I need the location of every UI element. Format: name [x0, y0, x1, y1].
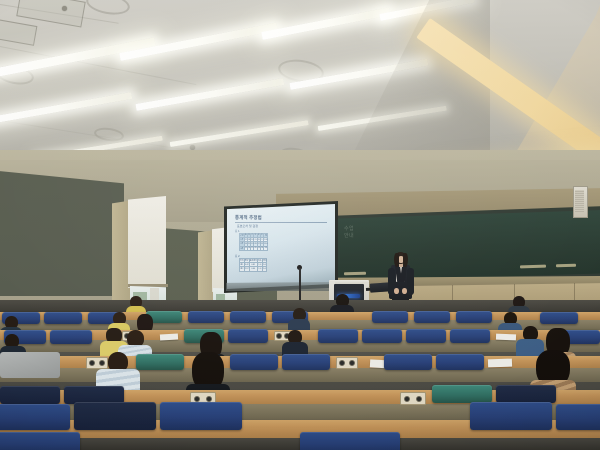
auditorium-seat[interactable]	[450, 329, 490, 343]
auditorium-seat[interactable]	[0, 432, 80, 450]
auditorium-seat[interactable]	[230, 311, 266, 323]
tier-riser	[0, 368, 600, 382]
slide-table-row: 값22.970.641.05.0	[240, 267, 267, 271]
auditorium-seat[interactable]	[456, 311, 492, 323]
slide-table-2: 항목평균표준편차최소최대값13.420.811.05.0값22.970.641.…	[239, 258, 267, 272]
projection-screen: 통계적 추정법 표본오차 및 검정 표 1 구분ABCDEF계1차1218243…	[227, 204, 335, 289]
draped-coat	[0, 352, 60, 378]
acoustic-panel	[0, 168, 124, 296]
auditorium-seat[interactable]	[74, 402, 156, 430]
chalkboard-writing: 수업 안내	[344, 226, 354, 240]
auditorium-seat[interactable]	[436, 354, 484, 370]
presenter-hand	[402, 288, 407, 294]
screen-lower-shadow	[226, 282, 336, 291]
slide-table-1: 구분ABCDEF계1차121824311591092차1421192817111…	[239, 233, 268, 252]
auditorium-seat[interactable]	[496, 385, 556, 403]
auditorium-seat[interactable]	[318, 329, 358, 343]
slide-table-cell: 5.0	[262, 267, 267, 271]
speaker-grill-icon	[575, 190, 584, 212]
auditorium-seat[interactable]	[540, 312, 578, 324]
auditorium-seat[interactable]	[406, 329, 446, 343]
slide-table-cell: 98	[264, 246, 268, 250]
smoke-detector-icon	[62, 6, 67, 11]
auditorium-seat[interactable]	[432, 385, 492, 403]
handout-paper[interactable]	[488, 359, 512, 368]
projected-slide: 통계적 추정법 표본오차 및 검정 표 1 구분ABCDEF계1차1218243…	[227, 204, 335, 289]
auditorium-seat[interactable]	[300, 432, 400, 450]
auditorium-seat[interactable]	[362, 329, 402, 343]
slide-table-row: 3차11162226131098	[240, 246, 268, 250]
auditorium-seat[interactable]	[282, 354, 330, 370]
auditorium-seat[interactable]	[372, 311, 408, 323]
slide-table-cell: 0.64	[249, 267, 257, 271]
auditorium-seat[interactable]	[556, 404, 600, 430]
chalkboard: 수업 안내	[334, 210, 600, 282]
chalk-tray	[556, 264, 576, 268]
auditorium-seat[interactable]	[228, 329, 268, 343]
auditorium-seat[interactable]	[50, 330, 92, 344]
presenter-hair	[403, 253, 408, 267]
presenter-hair	[394, 253, 399, 267]
auditorium-seat[interactable]	[0, 404, 70, 430]
auditorium-seat[interactable]	[230, 354, 278, 370]
auditorium-seat[interactable]	[188, 311, 224, 323]
auditorium-seat[interactable]	[0, 386, 60, 404]
auditorium-seat[interactable]	[470, 402, 552, 430]
presenter-arm	[407, 268, 414, 295]
presenter-hand	[394, 288, 399, 294]
slide-title: 통계적 추정법	[235, 215, 262, 221]
auditorium-seat[interactable]	[384, 354, 432, 370]
desk-power-outlet[interactable]	[400, 392, 426, 405]
slide-subtitle: 표본오차 및 검정	[237, 224, 258, 228]
handout-paper[interactable]	[496, 334, 516, 341]
auditorium-seat[interactable]	[160, 402, 242, 430]
slide-title-rule	[235, 222, 327, 223]
chalk-tray	[344, 272, 366, 276]
roller-blind[interactable]	[128, 196, 166, 288]
desk-power-outlet[interactable]	[336, 357, 358, 369]
lecture-hall-photo: 수업 안내 통계적 추정법 표본오차 및 검정 표 1 구분ABCDEF계1차1…	[0, 0, 600, 450]
auditorium-seat[interactable]	[136, 354, 184, 370]
auditorium-seat[interactable]	[414, 311, 450, 323]
handout-paper[interactable]	[160, 334, 178, 341]
auditorium-seat[interactable]	[44, 312, 82, 324]
